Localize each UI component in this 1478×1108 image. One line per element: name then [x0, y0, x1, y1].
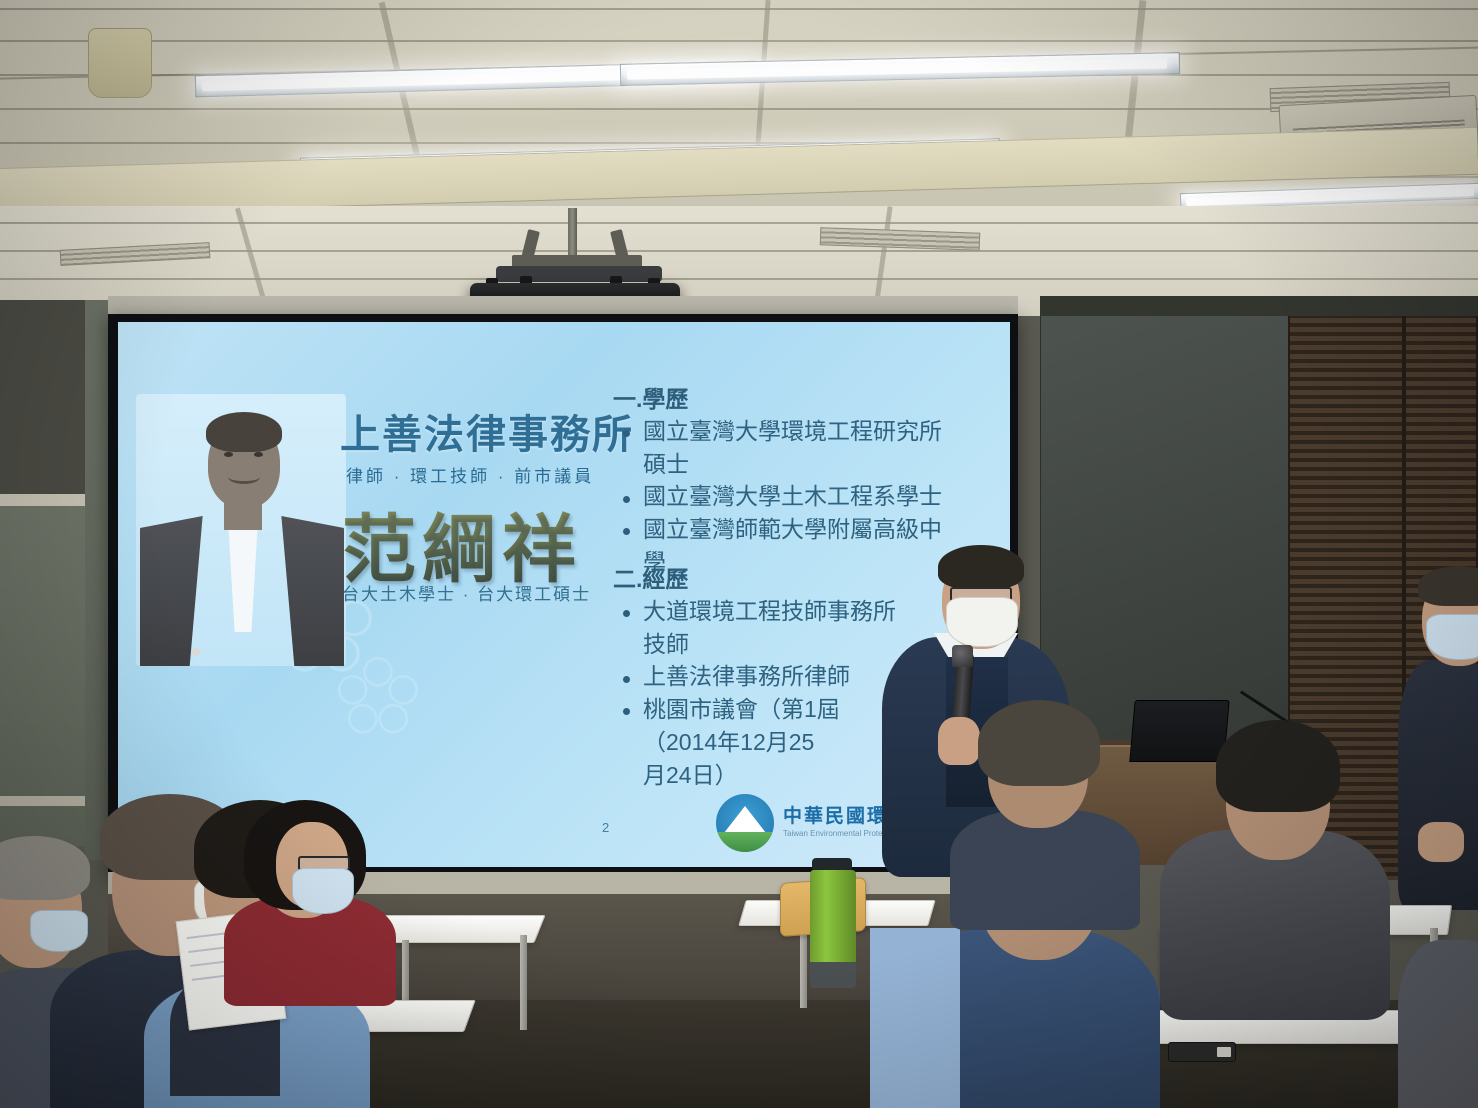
audience-body [950, 810, 1140, 930]
presenter-hair [938, 545, 1024, 589]
list-item: 國立臺灣大學土木工程系學士 [613, 481, 1010, 513]
list-item-continuation: 碩士 [613, 449, 1010, 481]
audience-shirt-sleeve [870, 928, 960, 1108]
audience-body [1398, 940, 1478, 1108]
audience-member [1398, 900, 1478, 1108]
slide-page-number: 2 [602, 820, 609, 835]
audience-hair [978, 700, 1100, 786]
wall-right-upper [1040, 296, 1478, 316]
desk-power-outlet[interactable] [1168, 1042, 1236, 1062]
slide-firm-title: 上善法律事務所 [340, 402, 634, 460]
audience-member [230, 800, 380, 1000]
screen-housing [108, 296, 1018, 316]
water-bottle[interactable] [810, 870, 856, 970]
ceiling-light-fixture [620, 52, 1180, 86]
standing-attendee-right [1398, 570, 1478, 900]
ceiling-air-vent [60, 242, 211, 266]
desk-leg [520, 935, 527, 1030]
audience-member [1160, 720, 1390, 950]
microphone-head [952, 645, 973, 667]
attendee-face-mask [1426, 614, 1478, 660]
attendee-hair [1418, 566, 1478, 606]
slide-credentials-line: 台大土木學士 · 台大環工碩士 [342, 580, 591, 605]
list-item: 國立臺灣大學環境工程研究所 [613, 416, 1010, 448]
presentation-room-photo: EPSON [0, 0, 1478, 1108]
list-item: 國立臺灣師範大學附屬高級中 [613, 514, 1010, 546]
audience-hair [1216, 720, 1340, 812]
attendee-hands [1418, 822, 1464, 862]
bottle-base [810, 962, 856, 988]
epa-mountain-icon [716, 794, 774, 852]
decorative-flower-icon [333, 652, 423, 742]
slide-role-line: 律師 · 環工技師 · 前市議員 [346, 462, 594, 487]
audience-member [960, 700, 1120, 880]
section-heading: 一.學歷 [613, 380, 1010, 414]
attendee-suit-jacket [1398, 660, 1478, 910]
smoke-detector [88, 28, 152, 98]
ceiling-air-vent [820, 227, 981, 251]
presenter-face-mask [946, 597, 1018, 647]
portrait-photo [136, 394, 346, 666]
audience-face-mask [292, 868, 354, 914]
